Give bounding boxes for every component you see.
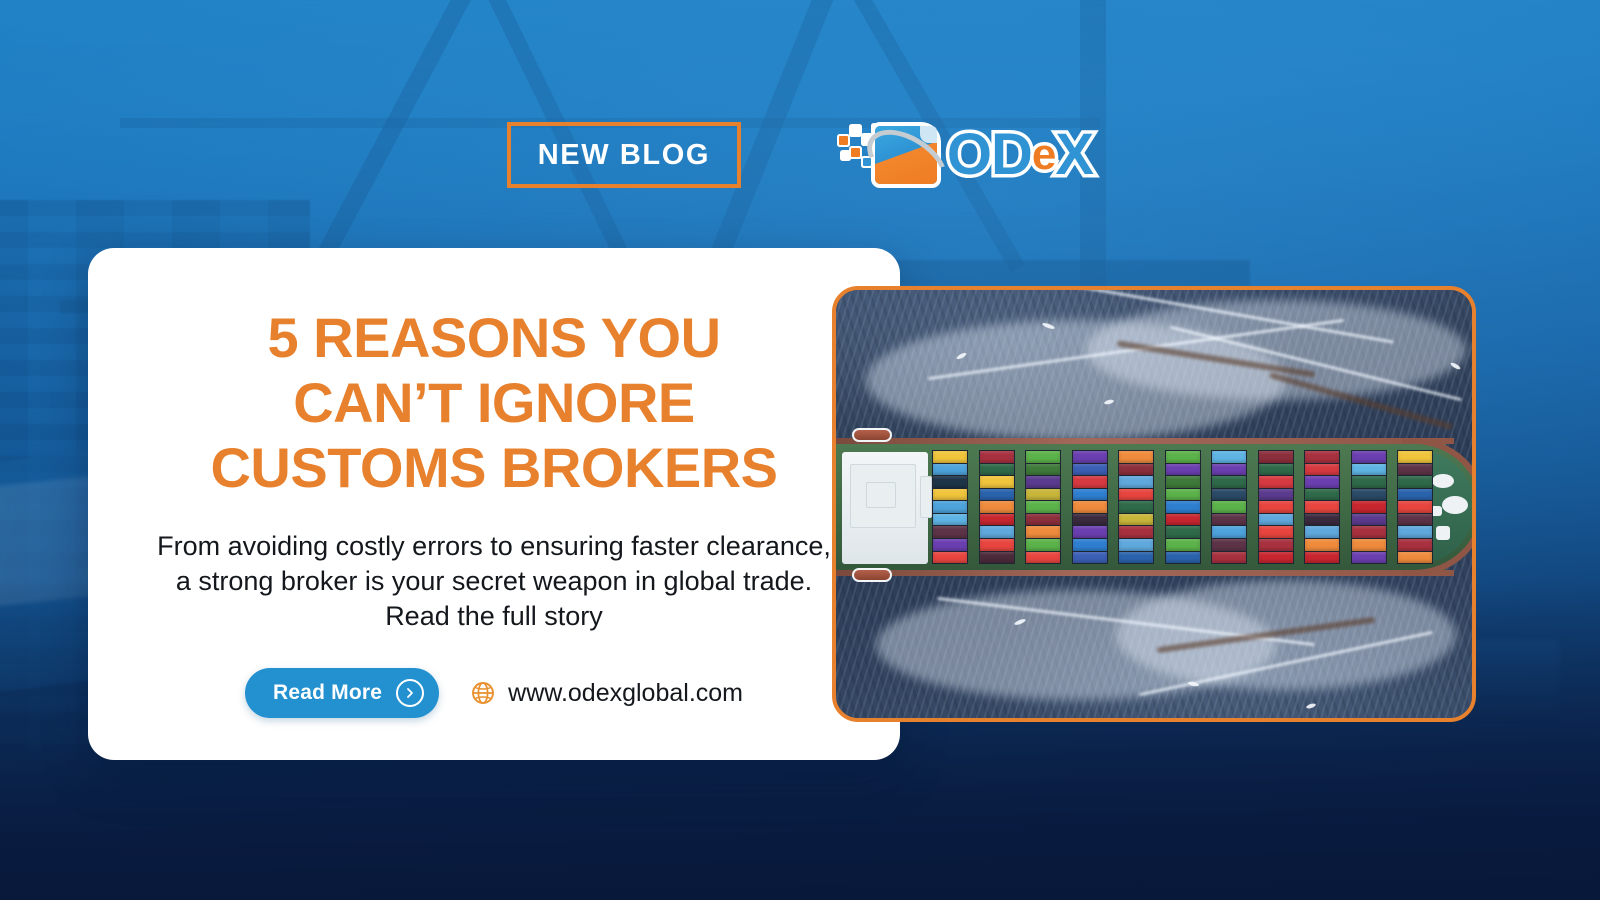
ship-deck-rim-bottom	[836, 570, 1454, 576]
container-stack-column	[1025, 450, 1061, 564]
shipping-container	[1352, 514, 1386, 526]
shipping-container	[980, 539, 1014, 551]
shipping-container	[933, 514, 967, 526]
shipping-container	[1073, 526, 1107, 538]
shipping-container	[1073, 539, 1107, 551]
shipping-container	[933, 526, 967, 538]
odex-logo-mark	[837, 120, 953, 190]
globe-icon	[471, 681, 495, 705]
shipping-container	[980, 489, 1014, 501]
shipping-container	[1398, 476, 1432, 488]
shipping-container	[1305, 489, 1339, 501]
shipping-container	[1166, 464, 1200, 476]
shipping-container	[933, 451, 967, 463]
headline-line-2: CAN’T IGNORE	[132, 371, 856, 436]
logo-pixel-2	[851, 126, 860, 135]
shipping-container	[933, 476, 967, 488]
new-blog-badge: NEW BLOG	[507, 122, 741, 188]
container-stack-column	[1211, 450, 1247, 564]
container-stack-column	[1072, 450, 1108, 564]
container-stack-column	[1304, 450, 1340, 564]
shipping-container	[1305, 552, 1339, 564]
shipping-container	[1212, 526, 1246, 538]
shipping-container	[1166, 501, 1200, 513]
logo-letter-e: e	[1032, 133, 1055, 177]
shipping-container	[1398, 552, 1432, 564]
website-link[interactable]: www.odexglobal.com	[471, 679, 743, 708]
shipping-container	[980, 514, 1014, 526]
logo-letter-x: X	[1055, 126, 1093, 184]
shipping-container	[1305, 501, 1339, 513]
container-ship	[836, 442, 1476, 572]
shipping-container	[933, 539, 967, 551]
shipping-container	[1352, 501, 1386, 513]
shipping-container	[980, 552, 1014, 564]
shipping-container	[1398, 514, 1432, 526]
ship-funnel-block	[866, 482, 896, 508]
shipping-container	[1305, 514, 1339, 526]
cta-row: Read More www.odexg	[245, 668, 743, 718]
shipping-container	[1026, 539, 1060, 551]
shipping-container	[1259, 552, 1293, 564]
shipping-container	[1212, 552, 1246, 564]
logo-pixel-1	[839, 136, 848, 145]
logo-letter-d: D	[991, 126, 1032, 184]
shipping-container	[933, 552, 967, 564]
ship-deckhouse-extension	[920, 476, 932, 518]
shipping-container	[1259, 526, 1293, 538]
shipping-container	[1352, 489, 1386, 501]
shipping-container	[1398, 501, 1432, 513]
container-stack-column	[932, 450, 968, 564]
shipping-container	[1305, 476, 1339, 488]
shipping-container	[1119, 489, 1153, 501]
shipping-container	[1166, 489, 1200, 501]
shipping-container	[980, 526, 1014, 538]
read-more-button[interactable]: Read More	[245, 668, 439, 718]
shipping-container	[1119, 514, 1153, 526]
shipping-container	[1119, 476, 1153, 488]
shipping-container	[1305, 539, 1339, 551]
shipping-container	[1212, 514, 1246, 526]
odex-logo-text: O D e X	[947, 126, 1093, 184]
headline-line-1: 5 REASONS YOU	[132, 306, 856, 371]
shipping-container	[933, 489, 967, 501]
shipping-container	[980, 451, 1014, 463]
shipping-container	[1026, 489, 1060, 501]
hero-image-container-ship	[832, 286, 1476, 722]
shipping-container	[1026, 514, 1060, 526]
shipping-container	[933, 464, 967, 476]
shipping-container	[1119, 464, 1153, 476]
container-stack-column	[1258, 450, 1294, 564]
shipping-container	[1398, 539, 1432, 551]
content-card: 5 REASONS YOU CAN’T IGNORE CUSTOMS BROKE…	[88, 248, 900, 760]
logo-pixel-6	[842, 152, 849, 159]
logo-letter-o: O	[947, 126, 991, 184]
logo-pixel-3	[851, 148, 860, 157]
shipping-container	[1166, 451, 1200, 463]
container-stack-column	[1397, 450, 1433, 564]
shipping-container	[980, 476, 1014, 488]
shipping-container	[1166, 552, 1200, 564]
shipping-container	[1212, 501, 1246, 513]
shipping-container	[1073, 464, 1107, 476]
bow-anchor-housing	[1436, 526, 1450, 540]
shipping-container	[1026, 464, 1060, 476]
shipping-container	[980, 501, 1014, 513]
shipping-container	[1259, 464, 1293, 476]
shipping-container	[1166, 539, 1200, 551]
shipping-container	[1026, 501, 1060, 513]
shipping-container	[1259, 476, 1293, 488]
shipping-container	[1166, 476, 1200, 488]
shipping-container	[1119, 539, 1153, 551]
shipping-container	[1026, 552, 1060, 564]
container-stack-column	[1351, 450, 1387, 564]
shipping-container	[1352, 526, 1386, 538]
container-stack-column	[979, 450, 1015, 564]
container-stack-column	[1118, 450, 1154, 564]
headline-line-3: CUSTOMS BROKERS	[132, 436, 856, 501]
page-title: 5 REASONS YOU CAN’T IGNORE CUSTOMS BROKE…	[132, 306, 856, 501]
chevron-right-circle-icon	[396, 679, 424, 707]
shipping-container	[1259, 451, 1293, 463]
shipping-container	[1259, 539, 1293, 551]
shipping-container	[1026, 476, 1060, 488]
shipping-container	[980, 464, 1014, 476]
shipping-container	[1119, 451, 1153, 463]
shipping-container	[1259, 501, 1293, 513]
shipping-container	[1119, 501, 1153, 513]
shipping-container	[1352, 539, 1386, 551]
shipping-container	[1305, 526, 1339, 538]
new-blog-badge-label: NEW BLOG	[538, 139, 710, 172]
shipping-container	[1212, 476, 1246, 488]
shipping-container	[1073, 489, 1107, 501]
shipping-container	[1073, 552, 1107, 564]
website-url-text: www.odexglobal.com	[508, 679, 743, 708]
read-more-label: Read More	[273, 681, 382, 705]
shipping-container	[1398, 464, 1432, 476]
description-text: From avoiding costly errors to ensuring …	[154, 529, 834, 634]
shipping-container	[1119, 526, 1153, 538]
shipping-container	[1073, 514, 1107, 526]
shipping-container	[1352, 451, 1386, 463]
shipping-container	[1398, 489, 1432, 501]
shipping-container	[1259, 489, 1293, 501]
shipping-container	[1352, 464, 1386, 476]
shipping-container	[933, 501, 967, 513]
container-stack-column	[1165, 450, 1201, 564]
bow-winch-2	[1442, 496, 1468, 514]
shipping-container	[1212, 451, 1246, 463]
shipping-container	[1166, 526, 1200, 538]
shipping-container	[1119, 552, 1153, 564]
lifeboat-starboard	[852, 568, 892, 582]
bow-winch-1	[1432, 474, 1454, 488]
ship-deck-rim-top	[836, 438, 1454, 444]
shipping-container	[1352, 476, 1386, 488]
shipping-container	[1073, 451, 1107, 463]
odex-logo[interactable]: O D e X	[837, 118, 1093, 192]
shipping-container	[1026, 526, 1060, 538]
lifeboat-port	[852, 428, 892, 442]
shipping-container	[1212, 464, 1246, 476]
shipping-container	[1166, 514, 1200, 526]
shipping-container	[1073, 501, 1107, 513]
shipping-container	[1026, 451, 1060, 463]
shipping-container	[1073, 476, 1107, 488]
shipping-container	[1305, 464, 1339, 476]
poster-canvas: NEW BLOG O D e X	[0, 0, 1600, 900]
shipping-container	[1305, 451, 1339, 463]
shipping-container	[1212, 489, 1246, 501]
header-bar: NEW BLOG O D e X	[0, 118, 1600, 192]
shipping-container	[1352, 552, 1386, 564]
shipping-container	[1259, 514, 1293, 526]
shipping-container	[1398, 526, 1432, 538]
shipping-container	[1212, 539, 1246, 551]
shipping-container	[1398, 451, 1432, 463]
